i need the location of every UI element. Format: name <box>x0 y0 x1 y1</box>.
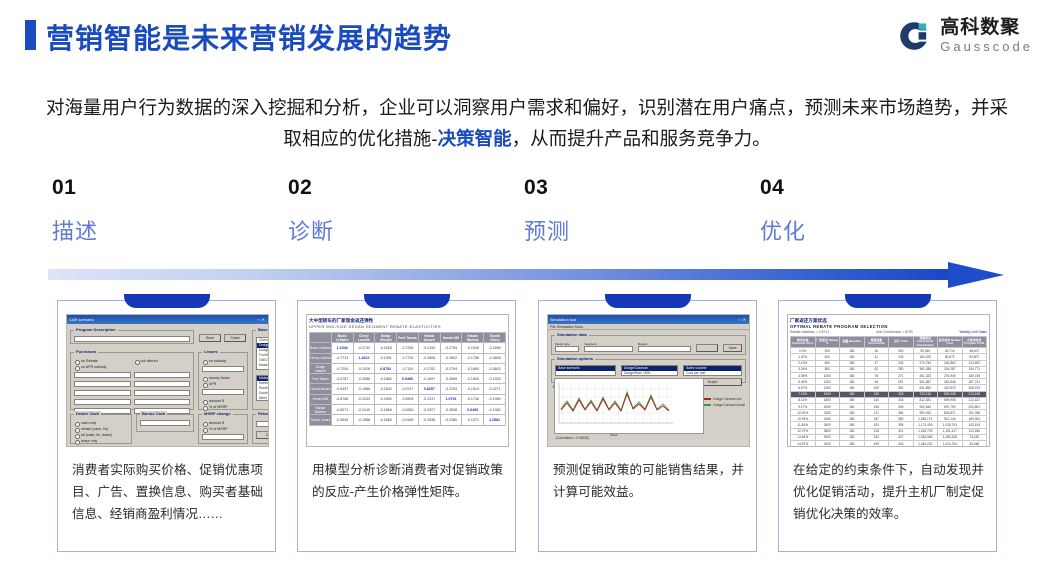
group-program-description: Program Description <box>70 330 194 344</box>
matrix-table: Buick LeSabre Chevy Lumina Dodge Intrepi… <box>309 332 506 426</box>
corner-cell <box>310 333 332 343</box>
meta-contribution: Unit Contribution = $790 <box>876 330 913 335</box>
table-cell: -0.2192 <box>418 343 440 353</box>
table-cell: -0.2806 <box>418 353 440 363</box>
arrow-head-icon <box>948 262 1004 288</box>
legend-label: Dodge Caravan sim <box>713 397 741 401</box>
card-tab <box>124 294 210 308</box>
output-list[interactable]: Sales volumeCost per unit <box>683 365 742 376</box>
radio-apr[interactable]: APR <box>202 381 244 387</box>
step-01: 01 描述 <box>52 176 282 246</box>
table-row: Ford Taurus-0.6787-0.2588-0.18600.9480-0… <box>310 374 506 384</box>
group-title: Rebate incentives <box>256 411 269 416</box>
optimal-meta: Rebate elasticity = 0.8712 Unit Contribu… <box>790 330 987 335</box>
card-caption: 预测促销政策的可能销售结果，并计算可能效益。 <box>553 459 744 503</box>
segment-select[interactable] <box>584 346 633 352</box>
purchase-value-input[interactable] <box>74 372 131 378</box>
column-header: 总计 Total <box>889 337 914 348</box>
card-optimize[interactable]: 厂家返还方案优选 OPTIMAL REBATE PROGRAM SELECTIO… <box>778 300 997 552</box>
page-title: 营销智能是未来营销发展的趋势 <box>46 17 452 57</box>
step-04: 04 优化 <box>760 176 990 246</box>
logo-text-cn: 高科数聚 <box>940 18 1033 37</box>
radio-lease-only[interactable]: lease only <box>74 438 128 444</box>
legend-label: Dodge Caravan actual <box>713 403 745 407</box>
table-cell: -0.1860 <box>375 374 397 384</box>
table-row: Honda Accord-0.5497-0.1986-0.1642-0.5747… <box>310 384 506 394</box>
simulation-chart <box>554 378 704 434</box>
elasticity-matrix: 大中型轿车的厂家现金返还弹性 UPPER MID-SIZE SEDAN SEGM… <box>307 315 508 446</box>
table-cell: -0.1736 <box>462 394 484 404</box>
lead-text-part2: ，从而提升产品和服务竞争力。 <box>512 128 771 149</box>
table-cell: 0.8752 <box>375 363 397 373</box>
progression-arrow <box>48 262 1008 288</box>
window-titlebar: CAR scenario ▫▫✕ <box>67 315 268 324</box>
row-header: Ford Taurus <box>310 374 332 384</box>
arrow-bar <box>48 269 953 280</box>
table-cell: -0.1690 <box>462 363 484 373</box>
card-tab <box>845 294 931 308</box>
table-cell: -0.1660 <box>375 415 397 425</box>
column-header: 增量销量 Incremental <box>864 337 889 348</box>
group-base-incentives: Base incentives Chevrolet 500 Dodge/Cara… <box>252 330 269 410</box>
screenshot-simulation-window: Simulation tool ▫▫✕ File Simulation Tool… <box>547 314 750 447</box>
table-row: Chevy Lumina-0.77131.2622-0.1991-0.7791-… <box>310 353 506 363</box>
gausscode-logo-mark-icon <box>897 19 931 53</box>
table-cell: -0.3808 <box>484 353 506 363</box>
purchase-term-input-24[interactable] <box>74 381 131 387</box>
card-describe[interactable]: CAR scenario ▫▫✕ Program Description Sav… <box>57 300 276 552</box>
window-body: Program Description Save Close Purchases… <box>67 324 268 447</box>
table-cell: -0.6189 <box>397 415 419 425</box>
table-cell: -0.2293 <box>440 384 462 394</box>
group-title: Base incentives <box>256 327 269 332</box>
step-label: 预测 <box>524 214 754 246</box>
legend-swatch <box>704 404 711 406</box>
list-item[interactable]: Cost per unit <box>684 371 741 376</box>
radio-pct-msrp[interactable]: % of MSRP <box>202 404 244 410</box>
table-cell: -0.1040 <box>462 343 484 353</box>
window-titlebar: Simulation tool ▫▫✕ <box>548 315 749 324</box>
step-labels: 01 描述 02 诊断 03 预测 04 优化 <box>52 176 1008 246</box>
row-header: Honda Accord <box>310 384 332 394</box>
table-cell: -0.2669 <box>440 374 462 384</box>
purchase-term-input-36[interactable] <box>74 390 131 396</box>
row-header: Nissan Maxima <box>310 405 332 415</box>
table-cell: -0.1925 <box>484 374 506 384</box>
window-body: Simulation data Model type Segment Regio… <box>548 330 749 440</box>
table-cell: -0.1936 <box>418 415 440 425</box>
window-controls-icon: ▫▫✕ <box>257 317 266 322</box>
table-cell: -0.3602 <box>484 363 506 373</box>
optimal-rebate-table: 购买价格 Customer Price厂家返还 Rebate $销量 Basel… <box>790 336 987 447</box>
table-row: Dodge Intrepid-0.7204-0.20280.8752-0.711… <box>310 363 506 373</box>
table-cell: 1.2581 <box>484 415 506 425</box>
save-button[interactable]: Save <box>723 344 742 352</box>
table-cell: -0.6071 <box>331 405 353 415</box>
table-cell: 0.9480 <box>397 374 419 384</box>
table-header-row: Buick LeSabre Chevy Lumina Dodge Intrepi… <box>310 333 506 343</box>
group-msrp-change: MSRP change amount $ % of MSRP <box>198 414 248 444</box>
column-header: 厂家返还 Rebate $ <box>815 337 840 348</box>
screenshot-elasticity-matrix: 大中型轿车的厂家现金返还弹性 UPPER MID-SIZE SEDAN SEGM… <box>306 314 509 447</box>
step-number: 04 <box>760 176 990 200</box>
card-row: CAR scenario ▫▫✕ Program Description Sav… <box>57 300 997 552</box>
window-title: Simulation tool <box>550 317 576 322</box>
table-cell: -0.3702 <box>418 363 440 373</box>
table-cell: -0.1371 <box>462 415 484 425</box>
column-header: Nissan Maxima <box>462 333 484 343</box>
group-title: MSRP change <box>202 411 233 416</box>
step-03: 03 预测 <box>524 176 754 246</box>
meta-weekly-units: Weekly Unit Sales <box>960 330 987 335</box>
scenario-list[interactable]: Base scenario <box>555 365 616 376</box>
group-title: Dealer Cash <box>74 411 101 416</box>
lead-highlight: 决策智能 <box>438 128 512 149</box>
table-cell: -0.1697 <box>418 374 440 384</box>
table-cell: -0.1642 <box>375 384 397 394</box>
msrp-change-input[interactable] <box>202 434 244 440</box>
table-row: Toyota Camry-0.5645-0.1988-0.1660-0.6189… <box>310 415 506 425</box>
lead-paragraph: 对海量用户行为数据的深入挖掘和分析，企业可以洞察用户需求和偏好，识别潜在用户痛点… <box>46 92 1008 154</box>
row-header: Dodge Intrepid <box>310 363 332 373</box>
table-cell: -0.7110 <box>397 363 419 373</box>
card-caption: 消费者实际购买价格、促销优惠项目、广告、置换信息、购买者基础信息、经销商盈利情况… <box>72 459 263 525</box>
get-data-button[interactable] <box>696 344 719 352</box>
column-header: Dodge Intrepid <box>375 333 397 343</box>
card-tab <box>364 294 450 308</box>
table-cell: -0.2337 <box>418 394 440 404</box>
table-cell: -0.2018 <box>375 343 397 353</box>
group-rebate-incentives: Rebate incentives Clear Restore current … <box>252 414 269 444</box>
chart-legend: Dodge Caravan sim Dodge Caravan actual <box>704 396 745 408</box>
table-cell: 0.6490 <box>462 405 484 415</box>
matrix-body: Buick LeSabre1.1548-0.2742-0.2018-0.7254… <box>310 343 506 425</box>
list-item[interactable]: Dodge/Ram 1500 <box>622 371 677 376</box>
table-cell: 1.1548 <box>331 343 353 353</box>
radio-msrp-pct[interactable]: % of MSRP <box>202 426 244 432</box>
table-cell: -0.7713 <box>331 353 353 363</box>
list-item[interactable]: Base scenario <box>556 366 615 371</box>
step-label: 诊断 <box>288 214 518 246</box>
table-cell: -0.1500 <box>462 374 484 384</box>
table-cell: -0.2838 <box>440 405 462 415</box>
model-type-select[interactable] <box>555 346 579 352</box>
group-title: Program Description <box>74 327 118 332</box>
column-header: Ford Taurus <box>397 333 419 343</box>
column-header: Toyota Camry <box>484 333 506 343</box>
window-controls-icon: ▫▫✕ <box>738 317 747 322</box>
row-header: Honda 626 <box>310 394 332 404</box>
close-button[interactable]: Close <box>224 334 246 342</box>
group-title: Simulation options <box>555 356 595 361</box>
optimal-rebate-panel: 厂家返还方案优选 OPTIMAL REBATE PROGRAM SELECTIO… <box>788 315 989 446</box>
purchase-term-input-48[interactable] <box>74 399 131 405</box>
slide-root: 营销智能是未来营销发展的趋势 高科数聚 Gausscode 对海量用户行为数据的… <box>0 0 1051 586</box>
table-row: Honda 626-0.6766-0.2233-0.1890-0.6904-0.… <box>310 394 506 404</box>
table-cell: -0.2794 <box>440 343 462 353</box>
row-header: Toyota Camry <box>310 415 332 425</box>
table-body: 0.0%2001801620090,34040,71048,4071.02%40… <box>791 348 987 447</box>
chart-x-label: Week <box>610 433 618 437</box>
chart-svg <box>555 379 705 435</box>
column-header: 方案净收益 Program Profit <box>962 337 987 348</box>
group-simulation-data: Simulation data Model type Segment Regio… <box>551 335 746 355</box>
table-cell: -0.5747 <box>397 384 419 394</box>
group-title: Simulation data <box>555 332 589 337</box>
table-header-row: 购买价格 Customer Price厂家返还 Rebate $销量 Basel… <box>791 337 987 348</box>
table-cell: -0.2028 <box>353 363 375 373</box>
combo-term-input-24[interactable] <box>134 381 191 387</box>
table-cell: 1.2622 <box>353 353 375 363</box>
group-leases: Leases no subsidy money factor APR amoun… <box>198 352 248 410</box>
model-list[interactable]: Dodge/Caravan Dodge/Ram 1500 <box>621 365 678 376</box>
screenshot-windows-dialog: CAR scenario ▫▫✕ Program Description Sav… <box>66 314 269 447</box>
table-cell: -0.6766 <box>331 394 353 404</box>
column-header: 增量收益 Incremental Contribution <box>913 337 938 348</box>
table-cell: -0.2588 <box>353 374 375 384</box>
group-dealer-cash: Dealer Cash cash only rebate (cash, fin)… <box>70 414 132 444</box>
card-diagnose[interactable]: 大中型轿车的厂家现金返还弹性 UPPER MID-SIZE SEDAN SEGM… <box>297 300 516 552</box>
legend-item: Dodge Caravan actual <box>704 402 745 408</box>
screenshot-optimal-rebate-table: 厂家返还方案优选 OPTIMAL REBATE PROGRAM SELECTIO… <box>787 314 990 447</box>
step-label: 优化 <box>760 214 990 246</box>
table-cell: 0.8257 <box>418 384 440 394</box>
row-header: Chevy Lumina <box>310 353 332 363</box>
table-row: Buick LeSabre1.1548-0.2742-0.2018-0.7254… <box>310 343 506 353</box>
group-title: Purchases <box>74 349 98 354</box>
column-header: 销量 Baseline <box>840 337 865 348</box>
table-cell: -0.7791 <box>397 353 419 363</box>
group-purchases: Purchases no Rebate no APR subsidy <box>70 352 194 410</box>
card-tab <box>605 294 691 308</box>
brand-logo: 高科数聚 Gausscode <box>897 18 1033 53</box>
program-description-input[interactable] <box>74 336 190 342</box>
row-header: Buick LeSabre <box>310 343 332 353</box>
clear-button[interactable]: Clear <box>256 431 269 439</box>
combo-term-input-48[interactable] <box>134 399 191 405</box>
column-header: Honda Accord <box>418 333 440 343</box>
card-caption: 在给定的约束条件下，自动发现并优化促销活动，提升主机厂制定促销优化决策的效率。 <box>793 459 984 525</box>
table-cell: -0.1890 <box>375 394 397 404</box>
table-cell: -0.3207 <box>418 405 440 415</box>
slide-header: 营销智能是未来营销发展的趋势 高科数聚 Gausscode <box>0 0 1051 78</box>
table-cell: -0.2742 <box>353 343 375 353</box>
lease-rate-input[interactable] <box>202 389 244 395</box>
legend-swatch <box>704 398 711 400</box>
table-cell: -0.6904 <box>397 394 419 404</box>
step-number: 02 <box>288 176 518 200</box>
column-header: Honda 626 <box>440 333 462 343</box>
group-title: Leases <box>202 349 220 354</box>
table-cell: -0.2602 <box>440 353 462 363</box>
lease-cash-input[interactable] <box>202 366 244 372</box>
table-cell: -0.1914 <box>462 384 484 394</box>
list-item[interactable]: West <box>257 396 269 401</box>
card-caption: 用模型分析诊断消费者对促销政策的反应-产生价格弹性矩阵。 <box>312 459 503 503</box>
table-cell: -0.1982 <box>484 405 506 415</box>
table-cell: -0.2271 <box>484 384 506 394</box>
group-bonus-cash: Bonus Cash <box>136 414 194 432</box>
region-list[interactable]: Midwest Northeast Southeast Southwest We… <box>256 375 269 401</box>
meta-elasticity: Rebate elasticity = 0.8712 <box>790 330 829 335</box>
radio-lease-no-subsidy[interactable]: no subsidy <box>202 358 244 364</box>
radio-no-apr-subsidy[interactable]: no APR subsidy <box>74 364 131 370</box>
radio-not-offered[interactable]: not offered <box>134 358 191 364</box>
save-button[interactable]: Save <box>199 334 221 342</box>
table-cell: -0.1986 <box>353 384 375 394</box>
table-cell: -0.1869 <box>375 405 397 415</box>
title-accent-bar <box>25 20 36 50</box>
table-cell: -0.1991 <box>375 353 397 363</box>
logo-text-en: Gausscode <box>940 40 1033 53</box>
list-item[interactable]: Mazda/B Series <box>257 363 269 368</box>
table-cell: -0.1960 <box>484 394 506 404</box>
window-title: CAR scenario <box>69 317 94 322</box>
step-number: 03 <box>524 176 754 200</box>
step-label: 描述 <box>52 214 282 246</box>
table-cell: -0.6362 <box>397 405 419 415</box>
table-cell: -0.5497 <box>331 384 353 394</box>
rebate-model-select[interactable] <box>256 421 269 427</box>
table-row: Nissan Maxima-0.6071-0.2149-0.1869-0.636… <box>310 405 506 415</box>
matrix-title-en: UPPER MID-SIZE SEDAN SEGMENT REBATE ELAS… <box>309 324 506 330</box>
column-header: Buick LeSabre <box>331 333 353 343</box>
combo-term-input-36[interactable] <box>134 390 191 396</box>
group-title: Bonus Cash <box>140 411 167 416</box>
bonus-cash-input[interactable] <box>140 420 190 426</box>
region-select[interactable] <box>638 346 690 352</box>
table-cell: -0.2233 <box>353 394 375 404</box>
table-cell: -0.2149 <box>353 405 375 415</box>
table-cell: -0.5645 <box>331 415 353 425</box>
column-header: 返还成本 Rebate Cost <box>938 337 963 348</box>
column-header: Chevy Lumina <box>353 333 375 343</box>
combo-value-input[interactable] <box>134 372 191 378</box>
card-predict[interactable]: Simulation tool ▫▫✕ File Simulation Tool… <box>538 300 757 552</box>
model-list[interactable]: Chevrolet 500 Dodge/Caravan Dodge/Ram 15… <box>256 337 269 370</box>
table-cell: -0.7254 <box>397 343 419 353</box>
table-cell: -0.6787 <box>331 374 353 384</box>
table-cell: -0.1988 <box>353 415 375 425</box>
correlation-footnote: (Correlation = 0.96336) <box>556 436 589 440</box>
column-header: 购买价格 Customer Price <box>791 337 816 348</box>
table-cell: -0.2380 <box>440 415 462 425</box>
table-cell: 1.0791 <box>440 394 462 404</box>
table-cell: -0.1756 <box>462 353 484 363</box>
table-cell: -0.2794 <box>440 363 462 373</box>
step-02: 02 诊断 <box>288 176 518 246</box>
step-number: 01 <box>52 176 282 200</box>
table-cell: -0.7204 <box>331 363 353 373</box>
table-cell: -0.1896 <box>484 343 506 353</box>
